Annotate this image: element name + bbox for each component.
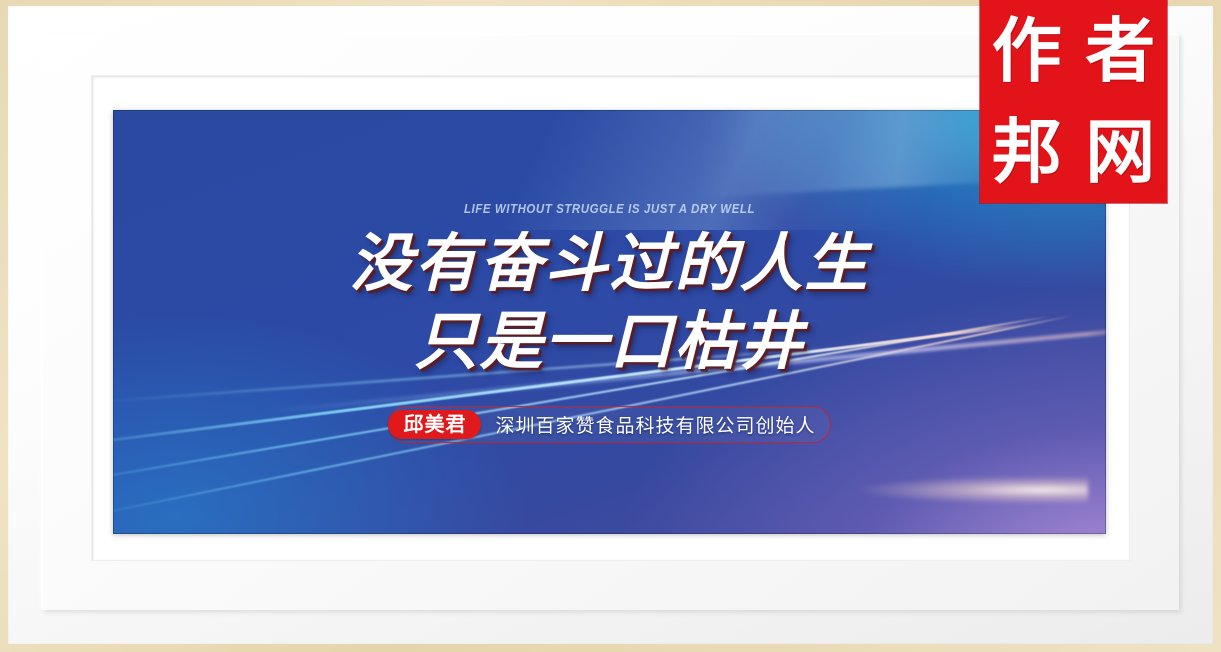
watermark-char-4: 网 [1085,117,1155,187]
speaker-company-title: 深圳百家赞食品科技有限公司创始人 [495,411,815,438]
speaker-credit: 邱美君 深圳百家赞食品科技有限公司创始人 [113,406,1106,443]
slide-headline-line-2: 只是一口枯井 [113,306,1106,378]
speaker-credit-box: 邱美君 深圳百家赞食品科技有限公司创始人 [388,406,830,443]
watermark-char-2: 者 [1085,16,1155,86]
slide-headline-line-1: 没有奋斗过的人生 [113,228,1106,300]
watermark-logo: 作 者 邦 网 [980,0,1167,203]
speaker-name-badge: 邱美君 [388,410,481,439]
watermark-char-3: 邦 [992,117,1062,187]
watermark-char-1: 作 [992,16,1062,86]
slide-eyebrow-text: LIFE WITHOUT STRUGGLE IS JUST A DRY WELL [153,202,1067,216]
presentation-slide: LIFE WITHOUT STRUGGLE IS JUST A DRY WELL… [113,110,1106,534]
slide-content: LIFE WITHOUT STRUGGLE IS JUST A DRY WELL… [113,110,1106,534]
screenshot-root: LIFE WITHOUT STRUGGLE IS JUST A DRY WELL… [0,0,1221,652]
